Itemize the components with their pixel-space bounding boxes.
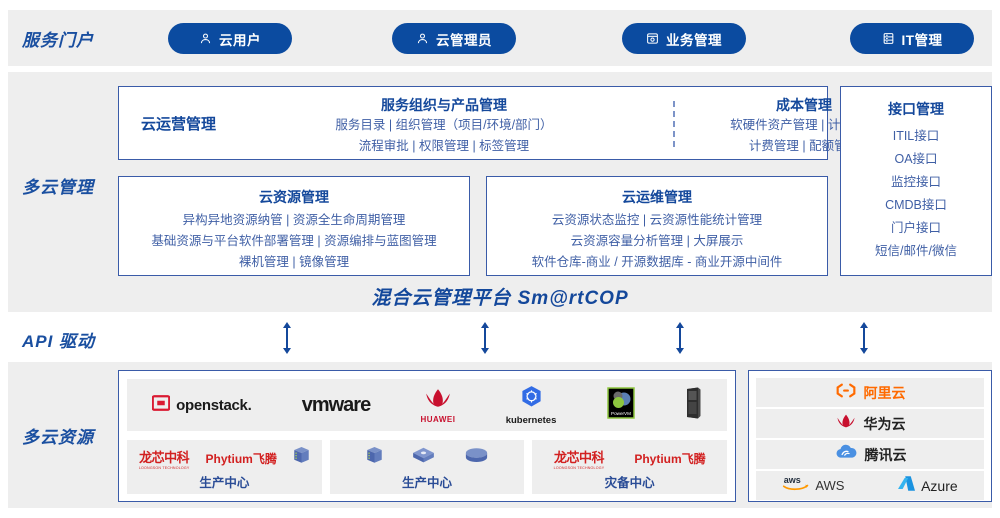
phytium-wordmark: Phytium飞腾: [634, 450, 705, 467]
portal-button-label: 云管理员: [436, 29, 492, 49]
portal-button-cloud-user[interactable]: 云用户: [168, 23, 292, 54]
server-stack-icon: [293, 446, 310, 470]
subpanel-line: 流程审批 | 权限管理 | 标签管理: [289, 136, 599, 157]
band-label-multicloud-management: 多云管理: [22, 173, 94, 198]
data-center-name: 灾备中心: [605, 472, 655, 491]
aws-label: AWS: [815, 478, 844, 493]
band-label-service-portal: 服务门户: [22, 26, 94, 51]
data-center-row: 龙芯中科 LOONGSON TECHNOLOGY Phytium飞腾: [127, 440, 727, 494]
bidirectional-arrow-icon: [479, 320, 491, 356]
public-cloud-tencentcloud[interactable]: 腾讯云: [756, 440, 984, 469]
band-label-api-driven: API 驱动: [22, 327, 95, 352]
vendor-logo-powervm: PowerVM: [607, 387, 635, 424]
huaweicloud-icon: [835, 413, 857, 434]
public-cloud-name: 腾讯云: [865, 445, 907, 465]
portal-button-it-mgmt[interactable]: IT管理: [850, 23, 974, 54]
vendor-logo-kubernetes: kubernetes: [506, 385, 557, 426]
loongson-wordmark: 龙芯中科: [139, 447, 189, 466]
portal-button-label: IT管理: [902, 29, 943, 49]
panel-line: 异构异地资源纳管 | 资源全生命周期管理: [119, 210, 469, 231]
panel-line: 软件仓库-商业 / 开源数据库 - 商业开源中间件: [487, 252, 827, 273]
public-cloud-row-aws-azure: aws AWS Azure: [756, 471, 984, 500]
public-cloud-alicloud[interactable]: 阿里云: [756, 378, 984, 407]
data-center-name: 生产中心: [199, 472, 249, 491]
subpanel-service-org-product: 服务组织与产品管理 服务目录 | 组织管理（项目/环境/部门） 流程审批 | 权…: [289, 95, 599, 157]
loongson-logo: 龙芯中科 LOONGSON TECHNOLOGY: [139, 447, 190, 470]
panel-cloud-resource-management[interactable]: 云资源管理 异构异地资源纳管 | 资源全生命周期管理 基础资源与平台软件部署管理…: [118, 176, 470, 276]
panel-cloud-operations-maintenance[interactable]: 云运维管理 云资源状态监控 | 云资源性能统计管理 云资源容量分析管理 | 大屏…: [486, 176, 828, 276]
bidirectional-arrow-icon: [674, 320, 686, 356]
panel-cloud-operation[interactable]: 云运营管理 服务组织与产品管理 服务目录 | 组织管理（项目/环境/部门） 流程…: [118, 86, 828, 160]
data-center-production-1[interactable]: 龙芯中科 LOONGSON TECHNOLOGY Phytium飞腾: [127, 440, 322, 494]
panel-public-clouds[interactable]: 阿里云 华为云 腾讯云: [748, 370, 992, 502]
user-icon: [199, 32, 212, 45]
powervm-icon: PowerVM: [607, 387, 635, 424]
huawei-flower-icon: [423, 387, 453, 414]
portal-button-label: 云用户: [219, 29, 261, 49]
loongson-logo: 龙芯中科 LOONGSON TECHNOLOGY: [554, 447, 605, 470]
public-cloud-name: 阿里云: [864, 383, 906, 403]
tencentcloud-icon: [834, 444, 858, 465]
server-rack-icon: [685, 387, 702, 424]
storage-disk-icon: [464, 447, 489, 469]
api-item: OA接口: [841, 148, 991, 171]
api-item: 监控接口: [841, 171, 991, 194]
vendor-logo-huawei: HUAWEI: [420, 387, 455, 424]
panel-cloud-operation-name: 云运营管理: [141, 113, 216, 134]
server-stack-icon: [366, 446, 383, 470]
public-cloud-name: 华为云: [864, 414, 906, 434]
subpanel-title: 服务组织与产品管理: [289, 95, 599, 115]
panel-title: 云资源管理: [119, 187, 469, 207]
portal-button-label: 业务管理: [666, 29, 722, 49]
panel-title: 接口管理: [841, 99, 991, 119]
portal-button-cloud-admin[interactable]: 云管理员: [392, 23, 516, 54]
svg-text:PowerVM: PowerVM: [611, 411, 631, 416]
server-list-icon: [882, 32, 895, 45]
vmware-wordmark: vmware: [302, 394, 371, 417]
phytium-wordmark: Phytium飞腾: [206, 450, 277, 467]
band-label-multicloud-resources: 多云资源: [22, 423, 94, 448]
openstack-icon: [152, 394, 170, 417]
panel-private-resources[interactable]: openstack. vmware HUAWEI: [118, 370, 736, 502]
panel-title: 云运维管理: [487, 187, 827, 207]
azure-icon: [897, 475, 916, 497]
api-item: 短信/邮件/微信: [841, 240, 991, 263]
network-switch-icon: [411, 446, 436, 470]
vendor-logo-vmware: vmware: [302, 394, 371, 417]
subpanel-line: 服务目录 | 组织管理（项目/环境/部门）: [289, 115, 599, 136]
api-item: ITIL接口: [841, 125, 991, 148]
kubernetes-helm-icon: [520, 385, 543, 413]
user-icon: [416, 32, 429, 45]
vendor-logo-openstack: openstack.: [152, 394, 251, 417]
panel-interface-management[interactable]: 接口管理 ITIL接口 OA接口 监控接口 CMDB接口 门户接口 短信/邮件/…: [840, 86, 992, 276]
api-item: CMDB接口: [841, 194, 991, 217]
data-center-production-2[interactable]: 生产中心: [330, 440, 525, 494]
data-center-disaster-recovery[interactable]: 龙芯中科 LOONGSON TECHNOLOGY Phytium飞腾 灾备中心: [532, 440, 727, 494]
dc-icon-group: [366, 445, 489, 471]
svg-text:aws: aws: [784, 475, 801, 485]
panel-line: 裸机管理 | 镜像管理: [119, 252, 469, 273]
alicloud-icon: [835, 383, 857, 403]
panel-line: 云资源容量分析管理 | 大屏展示: [487, 231, 827, 252]
dc-icon-group: 龙芯中科 LOONGSON TECHNOLOGY Phytium飞腾: [554, 445, 706, 471]
panel-line: 基础资源与平台软件部署管理 | 资源编排与蓝图管理: [119, 231, 469, 252]
vendor-logo-server-rack: [685, 387, 702, 424]
public-cloud-huaweicloud[interactable]: 华为云: [756, 409, 984, 438]
huawei-wordmark: HUAWEI: [420, 415, 455, 424]
panel-line: 云资源状态监控 | 云资源性能统计管理: [487, 210, 827, 231]
data-center-name: 生产中心: [402, 472, 452, 491]
diagram-root: 服务门户 云用户 云管理员 业务管理 IT管理: [0, 0, 1000, 518]
vendor-logo-strip: openstack. vmware HUAWEI: [127, 379, 727, 431]
loongson-subtext: LOONGSON TECHNOLOGY: [554, 466, 605, 470]
api-item: 门户接口: [841, 217, 991, 240]
business-window-icon: [646, 32, 659, 45]
openstack-wordmark: openstack.: [176, 397, 251, 414]
public-cloud-azure[interactable]: Azure: [897, 475, 958, 497]
azure-label: Azure: [921, 478, 958, 494]
aws-icon: aws: [782, 474, 810, 497]
loongson-subtext: LOONGSON TECHNOLOGY: [139, 466, 190, 470]
loongson-wordmark: 龙芯中科: [554, 447, 604, 466]
platform-title: 混合云管理平台 Sm@rtCOP: [8, 283, 992, 310]
bidirectional-arrow-icon: [281, 320, 293, 356]
dc-icon-group: 龙芯中科 LOONGSON TECHNOLOGY Phytium飞腾: [139, 445, 310, 471]
bidirectional-arrow-icon: [858, 320, 870, 356]
public-cloud-aws[interactable]: aws AWS: [782, 474, 844, 497]
portal-button-business-mgmt[interactable]: 业务管理: [622, 23, 746, 54]
kubernetes-wordmark: kubernetes: [506, 415, 557, 426]
